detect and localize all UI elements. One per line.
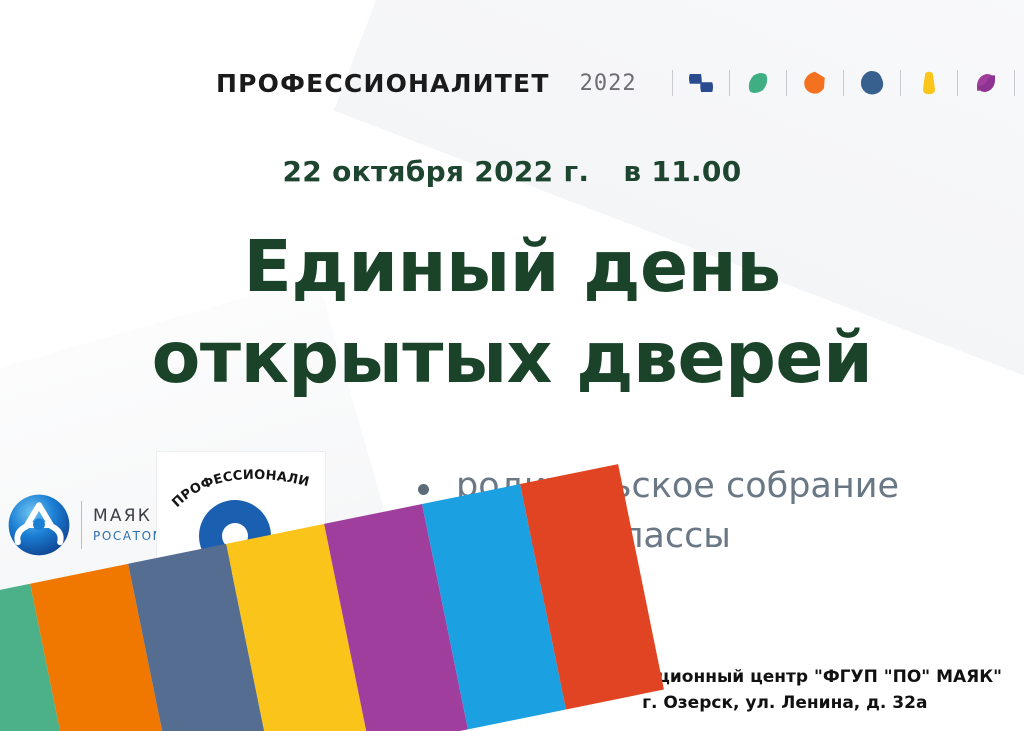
rosatom-atom-icon bbox=[6, 492, 72, 558]
rosatom-parent: РОСАТОМ bbox=[93, 529, 165, 543]
brand-year: 2022 bbox=[580, 71, 637, 96]
page-title-line-1: Единый день bbox=[0, 222, 1024, 313]
rosatom-text-block: МАЯК РОСАТОМ bbox=[93, 506, 165, 543]
event-datetime: 22 октября 2022 г.в 11.00 bbox=[0, 155, 1024, 188]
icon-divider bbox=[957, 70, 958, 96]
icon-divider bbox=[1014, 70, 1015, 96]
event-date: 22 октября 2022 г. bbox=[283, 155, 590, 188]
icon-divider bbox=[729, 70, 730, 96]
icon-divider bbox=[843, 70, 844, 96]
leaf-icon bbox=[743, 68, 773, 98]
poster-canvas: ПРОФЕССИОНАЛИТЕТ 2022 bbox=[0, 0, 1024, 731]
rosatom-name: МАЯК bbox=[93, 506, 165, 526]
partner-icon-strip bbox=[659, 68, 1024, 98]
event-time: в 11.00 bbox=[623, 155, 741, 188]
twist-purple-icon bbox=[971, 68, 1001, 98]
blob-orange-icon bbox=[800, 68, 830, 98]
rosatom-logo: МАЯК РОСАТОМ bbox=[6, 492, 165, 558]
page-title: Единый день открытых дверей bbox=[0, 222, 1024, 404]
rosatom-divider bbox=[81, 501, 82, 549]
brand-wordmark: ПРОФЕССИОНАЛИТЕТ bbox=[216, 69, 550, 98]
header-brand-row: ПРОФЕССИОНАЛИТЕТ 2022 bbox=[216, 68, 1024, 98]
page-title-line-2: открытых дверей bbox=[0, 313, 1024, 404]
blob-navy-icon bbox=[857, 68, 887, 98]
icon-divider bbox=[900, 70, 901, 96]
pinwheel-icon bbox=[686, 68, 716, 98]
icon-divider bbox=[672, 70, 673, 96]
bell-yellow-icon bbox=[914, 68, 944, 98]
icon-divider bbox=[786, 70, 787, 96]
